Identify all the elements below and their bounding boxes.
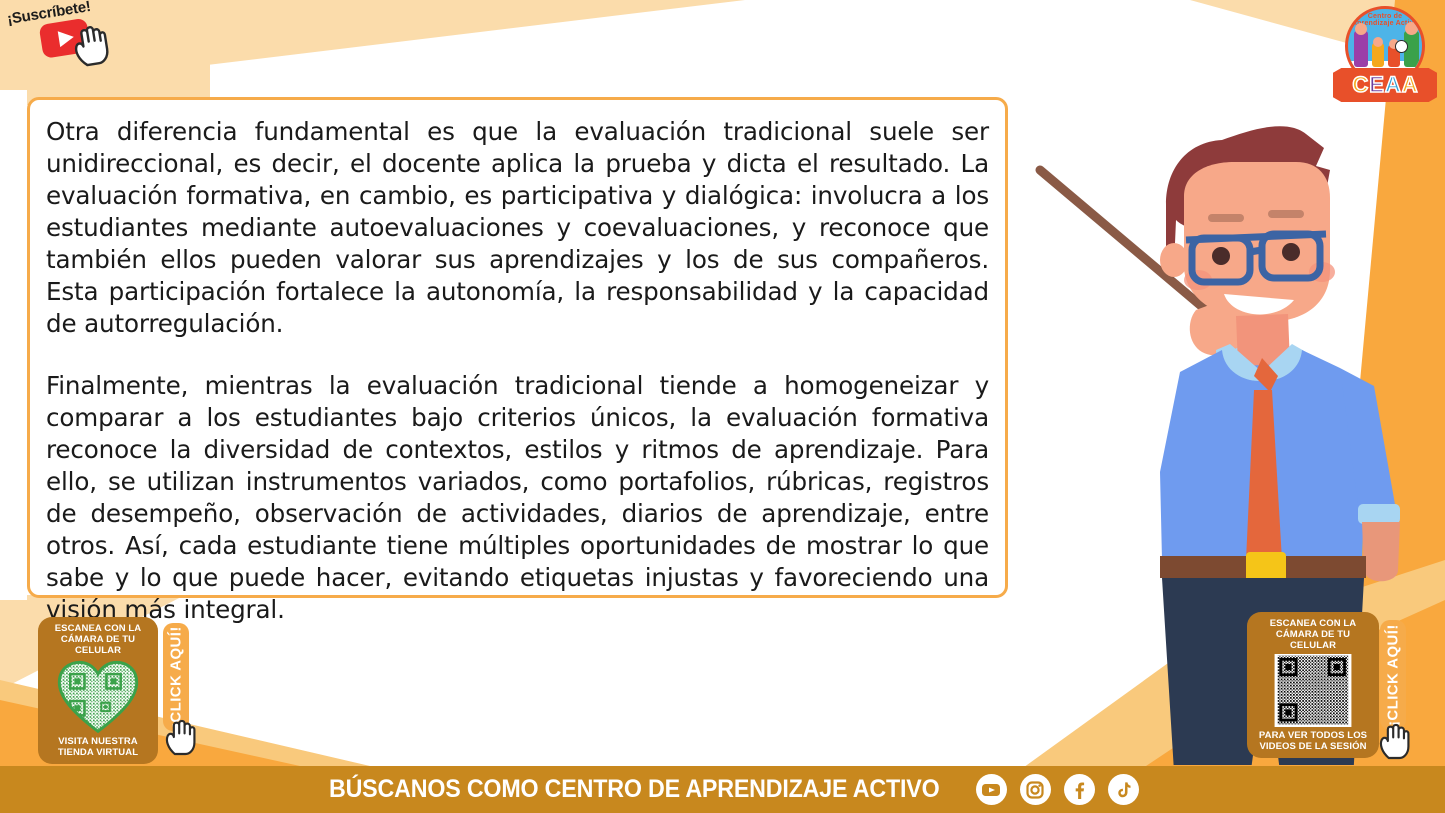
- footer-text: BÚSCANOS COMO CENTRO DE APRENDIZAJE ACTI…: [329, 775, 940, 804]
- teacher-belt-buckle: [1246, 552, 1286, 582]
- logo-figure-1: [1354, 31, 1368, 67]
- content-text-card: Otra diferencia fundamental es que la ev…: [27, 97, 1008, 598]
- logo-letter-c: C: [1352, 74, 1368, 96]
- qr-videos-top-text: ESCANEA CON LA CÁMARA DE TU CELULAR: [1255, 618, 1371, 651]
- teacher-right-hand: [1362, 522, 1400, 581]
- facebook-icon[interactable]: [1064, 774, 1095, 805]
- youtube-icon[interactable]: [976, 774, 1007, 805]
- logo-figure-2-head: [1373, 37, 1383, 47]
- hand-pointer-icon-store: [164, 718, 198, 756]
- logo-ribbon: C E A A: [1333, 68, 1437, 102]
- click-here-tab-store[interactable]: ¡CLICK AQUÍ!: [163, 623, 189, 731]
- qr-card-store[interactable]: ESCANEA CON LA CÁMARA DE TU CELULAR: [38, 617, 158, 764]
- qr-videos-bottom-text: PARA VER TODOS LOS VIDEOS DE LA SESIÓN: [1255, 730, 1371, 752]
- paragraph-2: Finalmente, mientras la evaluación tradi…: [46, 370, 989, 626]
- qr-card-videos[interactable]: ESCANEA CON LA CÁMARA DE TU CELULAR PARA…: [1247, 612, 1379, 758]
- logo-letter-e: E: [1369, 74, 1384, 96]
- ceaa-logo: Centro de Aprendizaje Activo C E A A: [1333, 4, 1437, 104]
- slide-canvas: ¡Suscríbete! Centro de Aprendizaje Activ…: [0, 0, 1445, 813]
- qr-store-bottom-text: VISITA NUESTRA TIENDA VIRTUAL: [46, 736, 150, 758]
- teacher-eyebrow-right: [1268, 210, 1304, 218]
- hand-pointer-icon: [69, 22, 113, 69]
- wedge-left-strip: [0, 90, 27, 600]
- teacher-eyebrow-left: [1208, 214, 1244, 222]
- tiktok-icon[interactable]: [1108, 774, 1139, 805]
- teacher-eye-right: [1282, 243, 1300, 261]
- teacher-eye-left: [1212, 247, 1230, 265]
- logo-soccer-ball-icon: [1395, 40, 1408, 53]
- instagram-icon[interactable]: [1020, 774, 1051, 805]
- logo-figure-4-head: [1405, 22, 1418, 35]
- qr-store-top-text: ESCANEA CON LA CÁMARA DE TU CELULAR: [46, 623, 150, 656]
- qr-code-heart-icon[interactable]: [48, 659, 148, 733]
- click-here-tab-videos[interactable]: ¡CLICK AQUÍ!: [1380, 620, 1406, 730]
- logo-letter-a1: A: [1385, 74, 1401, 96]
- teacher-right-cuff: [1358, 504, 1400, 524]
- paragraph-1: Otra diferencia fundamental es que la ev…: [46, 116, 989, 340]
- hand-pointer-icon-videos: [1378, 722, 1412, 760]
- logo-figure-1-head: [1355, 23, 1367, 35]
- qr-code-square-icon[interactable]: [1263, 654, 1363, 727]
- logo-letter-a2: A: [1402, 74, 1418, 96]
- footer-bar: BÚSCANOS COMO CENTRO DE APRENDIZAJE ACTI…: [0, 766, 1445, 813]
- teacher-ear: [1160, 243, 1188, 277]
